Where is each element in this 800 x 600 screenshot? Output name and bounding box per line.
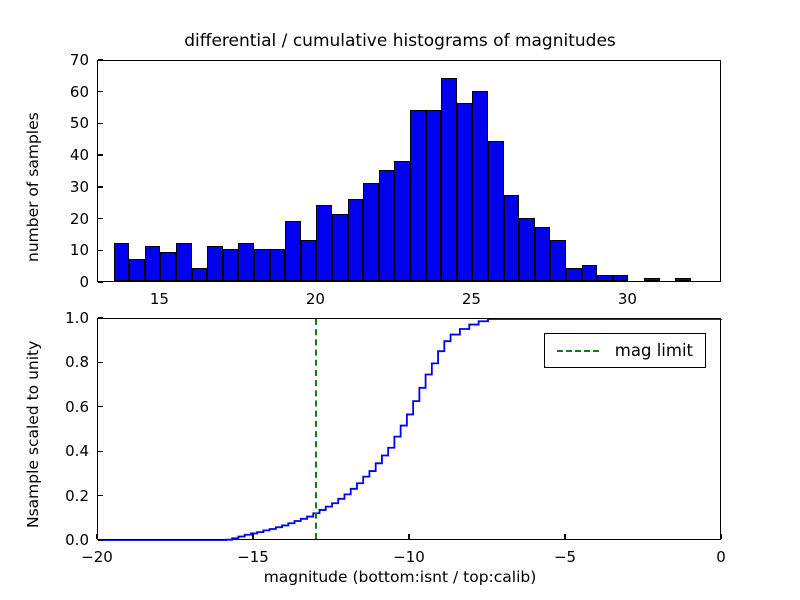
histogram-bar [519, 218, 535, 281]
tick-label: 15 [150, 290, 169, 308]
tick-label: 50 [70, 114, 89, 132]
histogram-bar [597, 275, 613, 281]
tick-mark [98, 59, 103, 60]
tick-label: 60 [70, 83, 89, 101]
tick-label: 0.0 [65, 531, 89, 549]
histogram-bar [566, 268, 582, 281]
histogram-bar [363, 183, 379, 281]
tick-mark [98, 154, 103, 155]
tick-mark [98, 406, 103, 407]
histogram-bar [285, 221, 301, 281]
tick-label: 30 [70, 178, 89, 196]
figure-title: differential / cumulative histograms of … [0, 31, 800, 51]
tick-mark [159, 276, 160, 281]
tick-label: 1.0 [65, 309, 89, 327]
figure: differential / cumulative histograms of … [0, 0, 800, 600]
tick-label: 0.2 [65, 487, 89, 505]
histogram-bar [160, 252, 176, 281]
tick-mark [408, 534, 409, 539]
tick-mark [98, 123, 103, 124]
tick-label: 30 [618, 290, 637, 308]
histogram-bar [535, 227, 551, 281]
tick-label: −10 [393, 548, 425, 566]
tick-mark [98, 362, 103, 363]
tick-mark [98, 317, 103, 318]
tick-label: 0.4 [65, 442, 89, 460]
tick-mark [98, 451, 103, 452]
tick-mark [315, 276, 316, 281]
mag-limit-vline [315, 319, 317, 539]
histogram-bar [238, 243, 254, 281]
tick-label: 20 [306, 290, 325, 308]
tick-label: 40 [70, 146, 89, 164]
histogram-bar [254, 249, 270, 281]
histogram-bar [394, 161, 410, 282]
tick-label: 0.8 [65, 353, 89, 371]
tick-mark [98, 218, 103, 219]
cumulative-axes: mag limit [97, 318, 721, 540]
tick-mark [98, 91, 103, 92]
tick-label: 20 [70, 210, 89, 228]
tick-mark [564, 534, 565, 539]
tick-label: 25 [462, 290, 481, 308]
histogram-bar [176, 243, 192, 281]
tick-label: −5 [554, 548, 576, 566]
histogram-bar [457, 103, 473, 281]
tick-mark [98, 281, 103, 282]
tick-mark [627, 276, 628, 281]
histogram-bars [98, 61, 720, 281]
histogram-bar [332, 214, 348, 281]
tick-mark [98, 539, 103, 540]
histogram-bar [488, 141, 504, 281]
tick-mark [96, 534, 97, 539]
histogram-bar [644, 278, 660, 281]
cumulative-ylabel: Nsample scaled to unity [24, 341, 42, 528]
legend-item-label: mag limit [615, 341, 693, 360]
tick-mark [471, 276, 472, 281]
tick-mark [252, 534, 253, 539]
tick-label: −20 [81, 548, 113, 566]
histogram-bar [582, 265, 598, 281]
histogram-bar [129, 259, 145, 281]
figure-xlabel: magnitude (bottom:isnt / top:calib) [0, 568, 800, 586]
histogram-bar [426, 110, 442, 281]
tick-mark [720, 534, 721, 539]
histogram-bar [207, 246, 223, 281]
tick-label: 0 [79, 273, 89, 291]
histogram-bar [675, 278, 691, 281]
histogram-bar [504, 195, 520, 281]
histogram-bar [550, 240, 566, 281]
tick-label: 0 [716, 548, 726, 566]
tick-mark [98, 186, 103, 187]
histogram-bar [316, 205, 332, 281]
tick-mark [98, 495, 103, 496]
legend[interactable]: mag limit [544, 333, 706, 368]
histogram-bar [472, 91, 488, 281]
histogram-bar [379, 170, 395, 281]
tick-label: 10 [70, 241, 89, 259]
histogram-bar [301, 240, 317, 281]
histogram-bar [223, 249, 239, 281]
tick-label: 0.6 [65, 398, 89, 416]
histogram-ylabel: number of samples [24, 112, 42, 262]
histogram-bar [348, 199, 364, 281]
histogram-bar [270, 249, 286, 281]
tick-mark [98, 250, 103, 251]
histogram-bar [441, 78, 457, 281]
tick-label: 70 [70, 51, 89, 69]
histogram-axes [97, 60, 721, 282]
tick-label: −15 [237, 548, 269, 566]
mag-limit-legend-swatch [557, 350, 599, 352]
histogram-bar [114, 243, 130, 281]
histogram-bar [410, 110, 426, 281]
histogram-bar [192, 268, 208, 281]
